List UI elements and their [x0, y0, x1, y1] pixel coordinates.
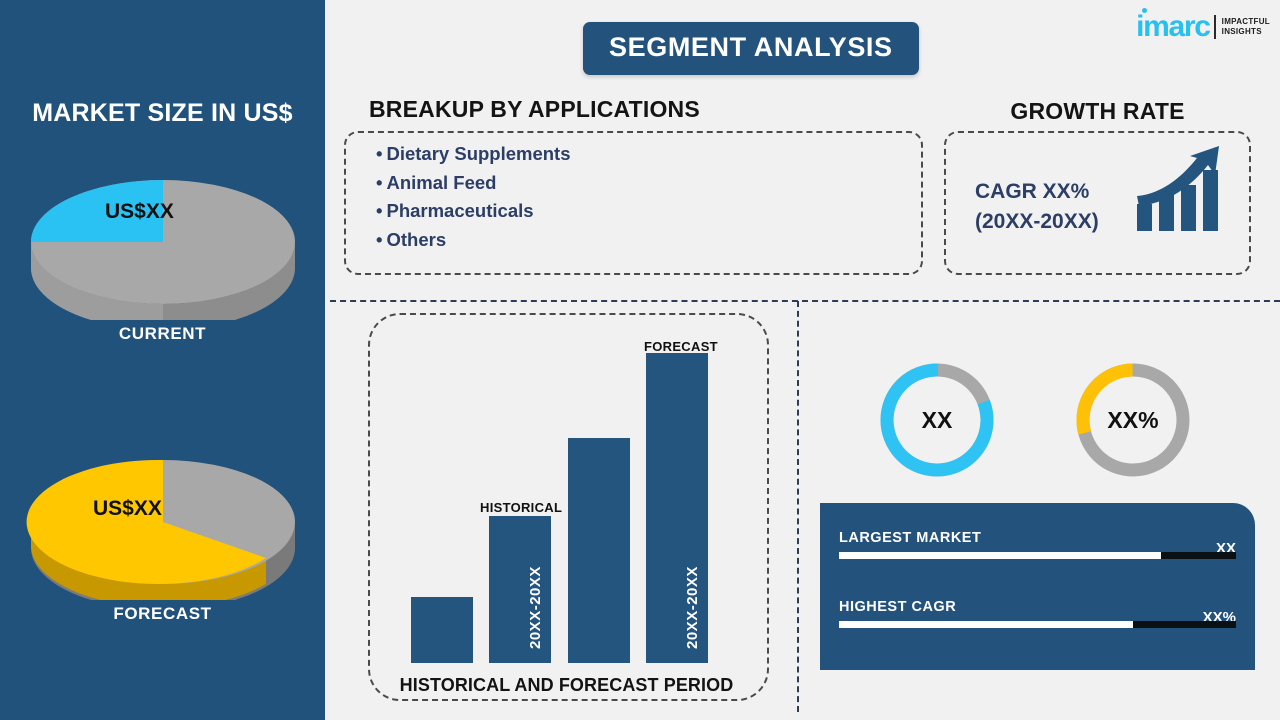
cagr-period: (20XX-20XX): [975, 207, 1099, 237]
list-item-label: Pharmaceuticals: [386, 200, 533, 221]
bar-1: [411, 597, 473, 663]
donut-chart-highest-cagr: XX%: [1070, 357, 1196, 483]
logo-divider: [1214, 15, 1216, 39]
stat-label: LARGEST MARKET: [839, 530, 981, 546]
list-item: •Others: [376, 226, 571, 255]
current-pie-value-label: US$XX: [105, 200, 174, 223]
forecast-pie-caption: FORECAST: [0, 604, 325, 624]
progress-fill: [839, 621, 1133, 628]
stat-row-highest-cagr: HIGHEST CAGR XX%: [839, 598, 1236, 628]
bullet-icon: •: [376, 200, 382, 221]
cagr-text: CAGR XX% (20XX-20XX): [975, 177, 1099, 237]
progress-track: [839, 621, 1236, 628]
header-band: SEGMENT ANALYSIS imarc IMPACTFUL INSIGHT…: [325, 0, 1280, 88]
bullet-icon: •: [376, 143, 382, 164]
forecast-pie-value-label: US$XX: [93, 497, 162, 520]
growth-rate-heading: GROWTH RATE: [945, 98, 1250, 125]
list-item-label: Animal Feed: [386, 172, 496, 193]
logo-wordmark: imarc: [1136, 12, 1210, 42]
logo-tagline-line2: INSIGHTS: [1222, 27, 1270, 37]
logo-tagline-line1: IMPACTFUL: [1222, 17, 1270, 27]
bullet-icon: •: [376, 229, 382, 250]
donut-1-label: XX: [922, 407, 953, 433]
bar-2-period-label: 20XX-20XX: [527, 566, 544, 649]
list-item: •Animal Feed: [376, 169, 571, 198]
list-item: •Dietary Supplements: [376, 140, 571, 169]
bullet-icon: •: [376, 172, 382, 193]
forecast-annotation: FORECAST: [644, 339, 718, 354]
imarc-logo: imarc IMPACTFUL INSIGHTS: [1136, 12, 1270, 42]
stat-label: HIGHEST CAGR: [839, 599, 956, 615]
progress-track: [839, 552, 1236, 559]
current-pie-caption: CURRENT: [0, 324, 325, 344]
market-stats-panel: LARGEST MARKET XX HIGHEST CAGR XX%: [820, 503, 1255, 670]
applications-list: •Dietary Supplements •Animal Feed •Pharm…: [376, 140, 571, 254]
donut-chart-largest-market: XX: [874, 357, 1000, 483]
cagr-value: CAGR XX%: [975, 177, 1099, 207]
sidebar-title: MARKET SIZE IN US$: [0, 99, 325, 128]
stat-row-largest-market: LARGEST MARKET XX: [839, 529, 1236, 559]
current-pie-chart: US$XX: [23, 150, 303, 320]
logo-tagline: IMPACTFUL INSIGHTS: [1222, 17, 1270, 37]
market-size-sidebar: MARKET SIZE IN US$ US$XX CURRENT: [0, 0, 325, 720]
list-item-label: Others: [386, 229, 446, 250]
bar-chart-caption: HISTORICAL AND FORECAST PERIOD: [368, 675, 765, 696]
infographic-page: MARKET SIZE IN US$ US$XX CURRENT: [0, 0, 1280, 720]
historical-annotation: HISTORICAL: [480, 500, 562, 515]
horizontal-divider: [330, 300, 1280, 302]
forecast-pie-chart: US$XX: [23, 430, 303, 600]
bar-4-period-label: 20XX-20XX: [684, 566, 701, 649]
vertical-divider: [797, 301, 799, 712]
growth-arrow-chart-icon: [1135, 144, 1230, 234]
forecast-pie-block: US$XX FORECAST: [0, 430, 325, 624]
logo-wordmark-text: imarc: [1136, 10, 1210, 43]
list-item-label: Dietary Supplements: [386, 143, 570, 164]
progress-fill: [839, 552, 1161, 559]
current-pie-block: US$XX CURRENT: [0, 150, 325, 344]
page-title: SEGMENT ANALYSIS: [583, 22, 919, 75]
list-item: •Pharmaceuticals: [376, 197, 571, 226]
donut-2-label: XX%: [1107, 407, 1158, 433]
applications-heading: BREAKUP BY APPLICATIONS: [369, 96, 700, 123]
bar-3: [568, 438, 630, 663]
